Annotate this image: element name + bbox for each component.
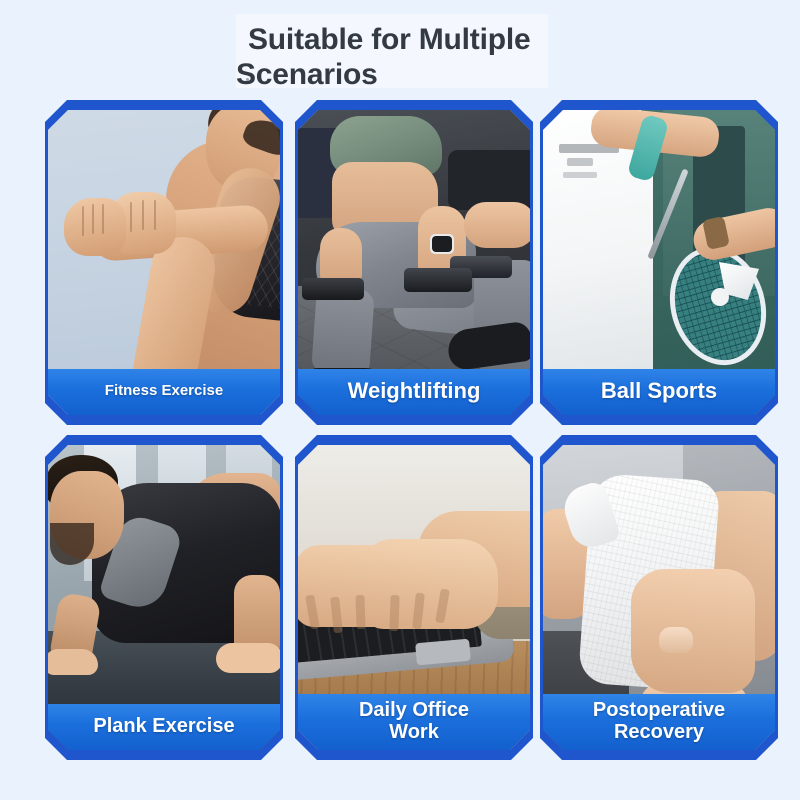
card-photo-frame: Weightlifting (298, 110, 530, 415)
card-label: Postoperative Recovery (587, 699, 731, 744)
scenario-card-weightlifting[interactable]: Weightlifting (295, 100, 533, 425)
scenario-card-postoperative-recovery[interactable]: Postoperative Recovery (540, 435, 778, 760)
scenario-card-daily-office-work[interactable]: Daily Office Work (295, 435, 533, 760)
card-label-band: Weightlifting (298, 369, 530, 415)
card-photo-frame: Ball Sports (543, 110, 775, 415)
scenario-card-fitness-exercise[interactable]: Fitness Exercise (45, 100, 283, 425)
card-photo-frame: Daily Office Work (298, 445, 530, 750)
card-photo-frame: Plank Exercise (48, 445, 280, 750)
card-label-band: Fitness Exercise (48, 369, 280, 415)
card-label-band: Ball Sports (543, 369, 775, 415)
card-label-band: Plank Exercise (48, 704, 280, 750)
page-header: Suitable for Multiple Scenarios (0, 0, 800, 100)
scenario-card-ball-sports[interactable]: Ball Sports (540, 100, 778, 425)
card-label: Fitness Exercise (99, 383, 229, 400)
card-label-band: Daily Office Work (298, 694, 530, 750)
scenario-card-plank-exercise[interactable]: Plank Exercise (45, 435, 283, 760)
page-title: Suitable for Multiple Scenarios (236, 22, 576, 93)
card-label: Plank Exercise (87, 715, 240, 737)
card-label: Weightlifting (342, 379, 487, 404)
card-label: Ball Sports (595, 379, 723, 404)
card-photo-frame: Fitness Exercise (48, 110, 280, 415)
title-accent-dot (246, 78, 249, 81)
scenario-card-grid: Fitness Exercise (45, 100, 795, 780)
card-label-band: Postoperative Recovery (543, 694, 775, 750)
card-photo-frame: Postoperative Recovery (543, 445, 775, 750)
card-label: Daily Office Work (353, 699, 475, 744)
